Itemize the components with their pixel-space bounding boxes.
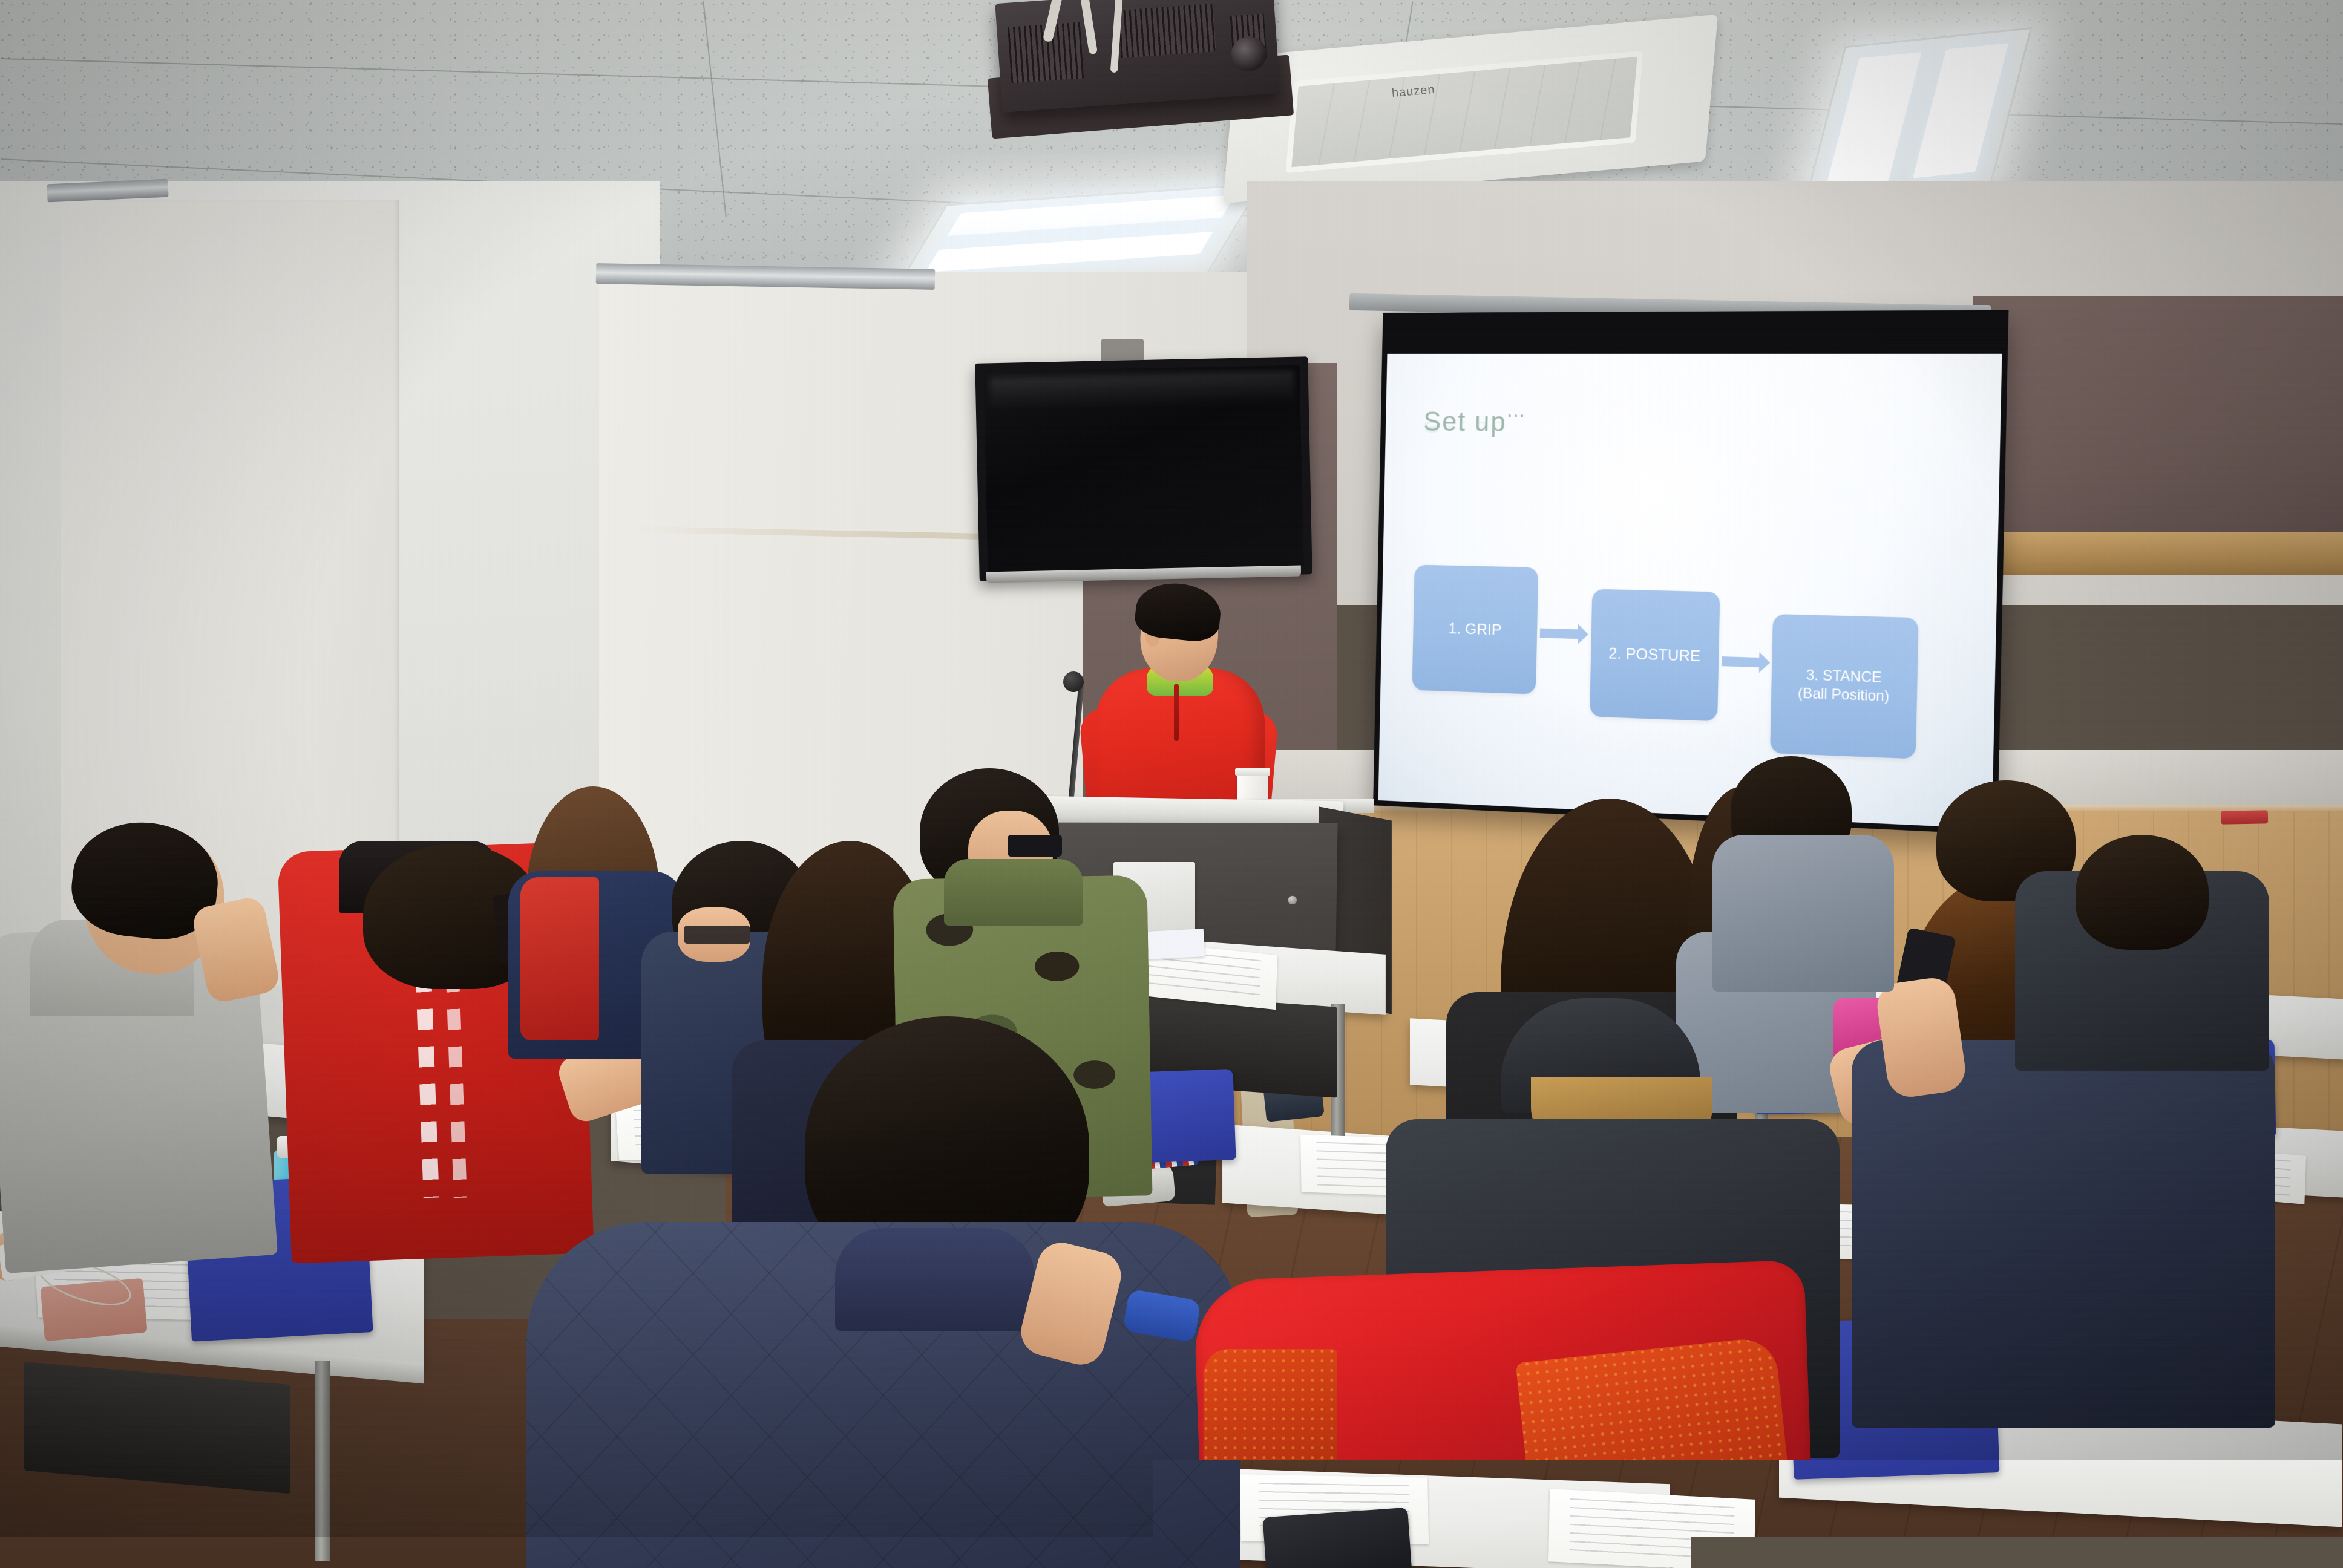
- flow-arrow-1-icon: [1540, 629, 1579, 639]
- microphone-icon: [1063, 671, 1084, 692]
- slide-surface: Set up⋯ Set up 1. GRIP 2. POSTURE 3. STA…: [1378, 354, 2002, 829]
- slide-title-ellipsis: ⋯: [1506, 404, 1526, 426]
- glasses-icon: [1008, 835, 1062, 857]
- student-hair: [2076, 835, 2209, 950]
- jacket-lining: [1515, 1336, 1794, 1555]
- flow-box-stance-label: 3. STANCE (Ball Position): [1798, 666, 1890, 706]
- jacket-collar: [944, 859, 1083, 926]
- desk-leg: [315, 1361, 330, 1561]
- flow-box-grip: 1. GRIP: [1412, 564, 1538, 694]
- slide-title-reflection: Set up: [1423, 418, 1507, 436]
- glasses-icon: [684, 926, 750, 944]
- student-hand: [1874, 975, 1968, 1100]
- classroom-photo: hauzen Set up⋯ Set u: [0, 0, 2343, 1568]
- red-vest: [520, 877, 599, 1040]
- flow-box-posture: 2. POSTURE: [1590, 589, 1720, 721]
- presenter-zipper: [1174, 684, 1179, 741]
- flow-arrow-2-icon: [1722, 657, 1760, 668]
- wall-mounted-tv[interactable]: [975, 356, 1312, 581]
- flow-box-stance: 3. STANCE (Ball Position): [1770, 614, 1919, 759]
- red-notebook-on-ledge[interactable]: [2221, 810, 2268, 824]
- projection-screen[interactable]: Set up⋯ Set up 1. GRIP 2. POSTURE 3. STA…: [1373, 310, 2008, 835]
- wood-trim-strip: [1967, 532, 2343, 575]
- jacket-hood: [835, 1228, 1035, 1331]
- student-body: [1712, 835, 1894, 992]
- student-body: [1852, 1040, 2275, 1428]
- desk-basket: [24, 1362, 290, 1494]
- coffee-cup-lid: [1235, 768, 1270, 776]
- jacket-lining: [1204, 1349, 1337, 1524]
- accent-wall-panel-right: [1973, 296, 2343, 550]
- tv-screen-reflection: [990, 371, 1294, 410]
